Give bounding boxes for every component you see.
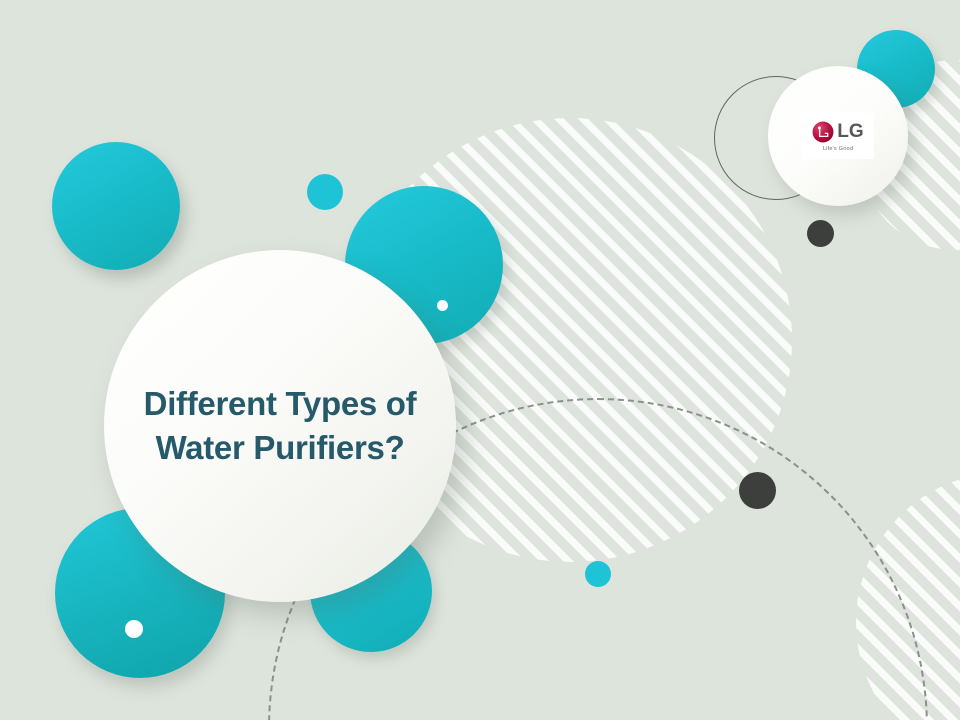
slide-canvas: Different Types of Water Purifiers? (0, 0, 960, 720)
white-dot-bottom-left (125, 620, 143, 638)
lg-face-icon (812, 121, 834, 143)
teal-circle-top-left (52, 142, 180, 270)
dark-dot-lower (739, 472, 776, 509)
dark-dot-upper (807, 220, 834, 247)
page-title: Different Types of Water Purifiers? (122, 382, 439, 469)
white-dot-center (437, 300, 448, 311)
lg-wordmark: LG (837, 122, 863, 141)
logo-row: LG (812, 121, 863, 143)
lg-tagline: Life's Good (823, 146, 853, 152)
title-circle: Different Types of Water Purifiers? (104, 250, 456, 602)
teal-dot-small (307, 174, 343, 210)
logo-plate: LG Life's Good (802, 113, 874, 159)
logo-badge: LG Life's Good (768, 66, 908, 206)
teal-dot-on-dashed-ring (585, 561, 611, 587)
